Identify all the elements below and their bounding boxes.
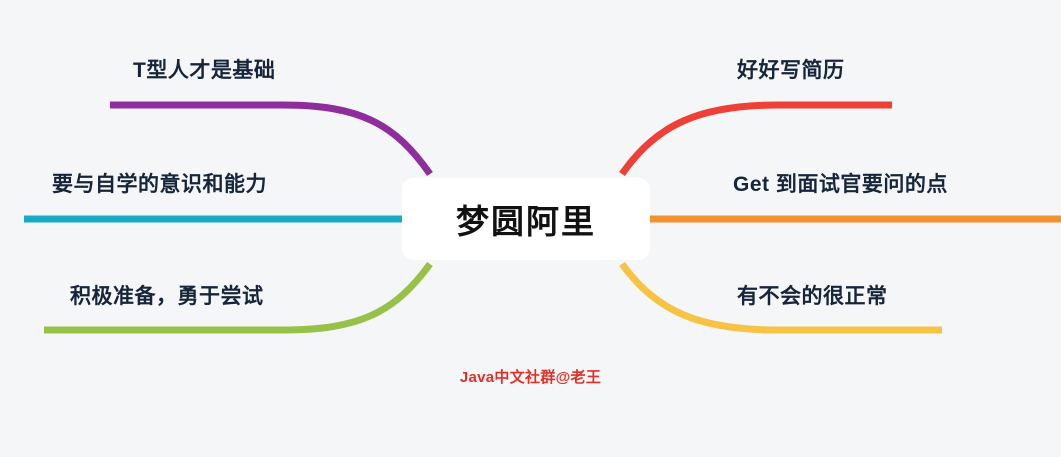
branch-label-write-resume[interactable]: 好好写简历 xyxy=(737,60,845,81)
mindmap-canvas: T型人才是基础 要与自学的意识和能力 积极准备，勇于尝试 好好写简历 Get 到… xyxy=(0,0,1061,457)
central-topic-text: 梦圆阿里 xyxy=(456,195,596,243)
branch-label-not-knowing-is-normal[interactable]: 有不会的很正常 xyxy=(737,286,888,307)
watermark-text: Java中文社群@老王 xyxy=(0,366,1061,387)
branch-label-self-learning[interactable]: 要与自学的意识和能力 xyxy=(52,174,267,195)
branch-label-t-shaped-talent[interactable]: T型人才是基础 xyxy=(133,60,275,81)
branch-line-t-shaped-talent xyxy=(110,105,430,174)
branch-line-write-resume xyxy=(622,105,892,174)
branch-label-active-preparation[interactable]: 积极准备，勇于尝试 xyxy=(70,286,264,307)
central-topic-node[interactable]: 梦圆阿里 xyxy=(402,178,650,260)
branch-label-get-interviewer-points[interactable]: Get 到面试官要问的点 xyxy=(733,174,948,195)
